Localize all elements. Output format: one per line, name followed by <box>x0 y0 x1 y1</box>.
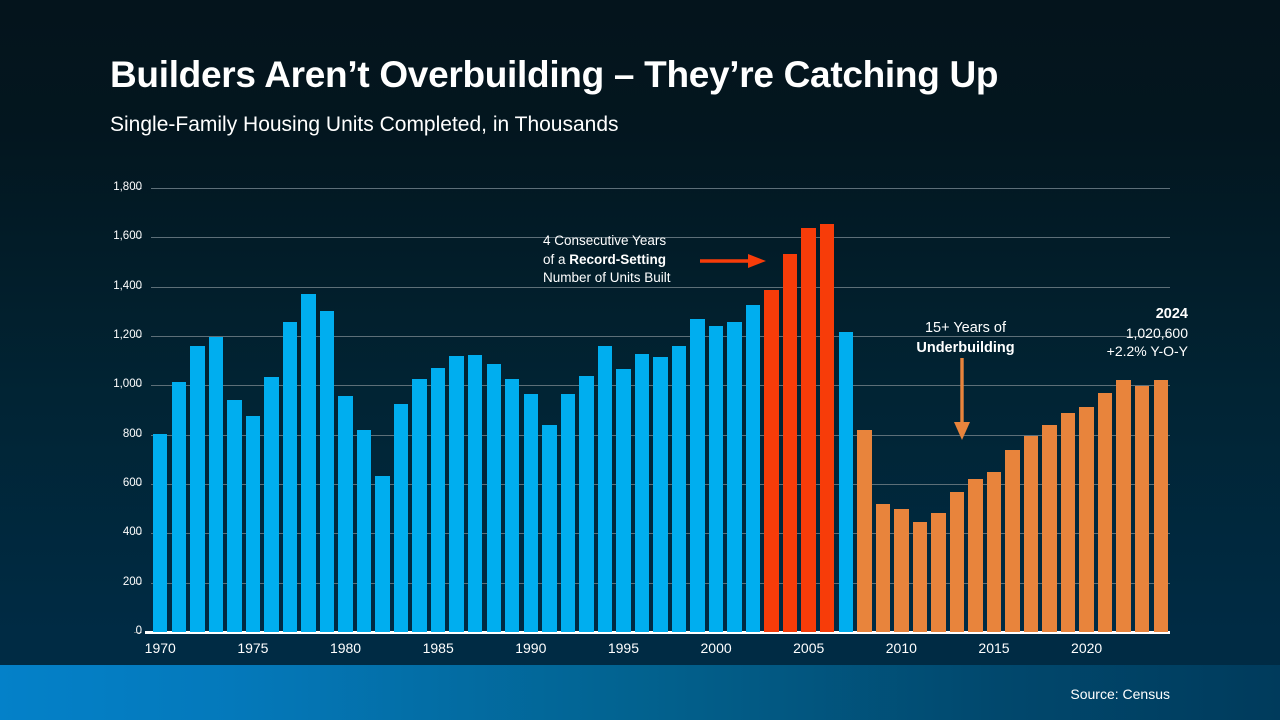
bar-2020 <box>1079 407 1093 632</box>
bar-2009 <box>876 504 890 632</box>
bar-2005 <box>801 228 815 632</box>
annotation-record-line2-bold: Record-Setting <box>569 252 666 267</box>
y-axis-tick-label: 0 <box>72 625 142 637</box>
bar-1979 <box>320 311 334 632</box>
bar-1970 <box>153 434 167 632</box>
y-axis-tick-label: 400 <box>72 526 142 538</box>
annotation-record-setting: 4 Consecutive Years of a Record-Setting … <box>543 232 671 288</box>
bar-1988 <box>487 364 501 632</box>
x-axis-tick-label: 2015 <box>978 640 1009 656</box>
bar-2006 <box>820 224 834 632</box>
bar-2012 <box>931 513 945 632</box>
x-axis-labels: 1970197519801985199019952000200520102015… <box>151 640 1170 660</box>
bar-1976 <box>264 377 278 632</box>
annotation-latest-change: +2.2% Y-O-Y <box>1048 342 1188 361</box>
bar-2002 <box>746 305 760 632</box>
y-axis-labels: 02004006008001,0001,2001,4001,6001,800 <box>72 188 142 632</box>
bar-2007 <box>839 332 853 632</box>
bar-2015 <box>987 472 1001 632</box>
y-axis-tick-label: 1,800 <box>72 181 142 193</box>
bar-1995 <box>616 369 630 632</box>
bar-2001 <box>727 322 741 632</box>
bar-2023 <box>1135 386 1149 632</box>
x-axis-tick-label: 1970 <box>145 640 176 656</box>
bar-2014 <box>968 479 982 632</box>
y-axis-tick-label: 1,200 <box>72 329 142 341</box>
bar-2018 <box>1042 425 1056 632</box>
y-axis-tick-label: 1,400 <box>72 280 142 292</box>
y-axis-tick-label: 200 <box>72 576 142 588</box>
x-axis-tick-label: 1995 <box>608 640 639 656</box>
bar-1974 <box>227 400 241 632</box>
bar-1997 <box>653 357 667 632</box>
bar-1986 <box>449 356 463 632</box>
bar-1972 <box>190 346 204 632</box>
x-axis-tick-label: 1980 <box>330 640 361 656</box>
bar-2010 <box>894 509 908 632</box>
y-axis-tick-label: 600 <box>72 477 142 489</box>
y-axis-tick-label: 800 <box>72 428 142 440</box>
bar-1980 <box>338 396 352 632</box>
bar-1990 <box>524 394 538 632</box>
x-axis-tick-label: 1985 <box>423 640 454 656</box>
x-axis-tick-label: 2020 <box>1071 640 1102 656</box>
y-axis-tick-label: 1,000 <box>72 378 142 390</box>
bar-1973 <box>209 337 223 632</box>
bar-1989 <box>505 379 519 632</box>
x-axis-tick-label: 2005 <box>793 640 824 656</box>
bar-1992 <box>561 394 575 632</box>
bar-2016 <box>1005 450 1019 632</box>
gridline <box>151 188 1170 189</box>
source-label: Source: Census <box>1070 686 1170 702</box>
annotation-underbuilding: 15+ Years of Underbuilding <box>908 319 1023 358</box>
arrow-right-icon <box>698 252 768 275</box>
x-axis-tick-label: 1975 <box>237 640 268 656</box>
bar-1999 <box>690 319 704 632</box>
x-axis-tick-label: 1990 <box>515 640 546 656</box>
x-axis-tick-label: 2010 <box>886 640 917 656</box>
bar-2019 <box>1061 413 1075 632</box>
bar-1985 <box>431 368 445 632</box>
bar-1987 <box>468 355 482 632</box>
bar-1993 <box>579 376 593 632</box>
page-subtitle: Single-Family Housing Units Completed, i… <box>110 113 619 137</box>
bar-2017 <box>1024 436 1038 632</box>
slide-canvas: Builders Aren’t Overbuilding – They’re C… <box>0 0 1280 720</box>
annotation-underbuilding-line1: 15+ Years of <box>908 319 1023 339</box>
annotation-record-line2-prefix: of a <box>543 252 569 267</box>
bar-2003 <box>764 290 778 632</box>
bar-1983 <box>394 404 408 632</box>
bar-2022 <box>1116 380 1130 632</box>
annotation-latest-year-label: 2024 <box>1048 305 1188 324</box>
bar-2000 <box>709 326 723 632</box>
annotation-underbuilding-bold: Underbuilding <box>916 340 1014 356</box>
x-axis-tick-label: 2000 <box>701 640 732 656</box>
bar-1975 <box>246 416 260 632</box>
annotation-record-line1: 4 Consecutive Years <box>543 232 671 251</box>
bar-2021 <box>1098 393 1112 632</box>
bar-2004 <box>783 254 797 632</box>
bar-1991 <box>542 425 556 632</box>
bar-1981 <box>357 430 371 632</box>
bar-1996 <box>635 354 649 632</box>
bar-2011 <box>913 522 927 632</box>
annotation-record-line3: Number of Units Built <box>543 269 671 288</box>
annotation-record-line2: of a Record-Setting <box>543 251 671 270</box>
bar-1977 <box>283 322 297 632</box>
arrow-down-icon <box>952 356 972 447</box>
y-axis-tick-label: 1,600 <box>72 230 142 242</box>
bar-1998 <box>672 346 686 632</box>
annotation-latest-value: 1,020,600 <box>1048 324 1188 343</box>
annotation-latest-year: 2024 1,020,600 +2.2% Y-O-Y <box>1048 305 1188 361</box>
bar-1978 <box>301 294 315 632</box>
page-title: Builders Aren’t Overbuilding – They’re C… <box>110 54 998 96</box>
bar-1984 <box>412 379 426 632</box>
bar-1982 <box>375 476 389 632</box>
bar-1994 <box>598 346 612 632</box>
bar-2024 <box>1154 380 1168 632</box>
bar-2008 <box>857 430 871 632</box>
bar-2013 <box>950 492 964 632</box>
bar-1971 <box>172 382 186 632</box>
